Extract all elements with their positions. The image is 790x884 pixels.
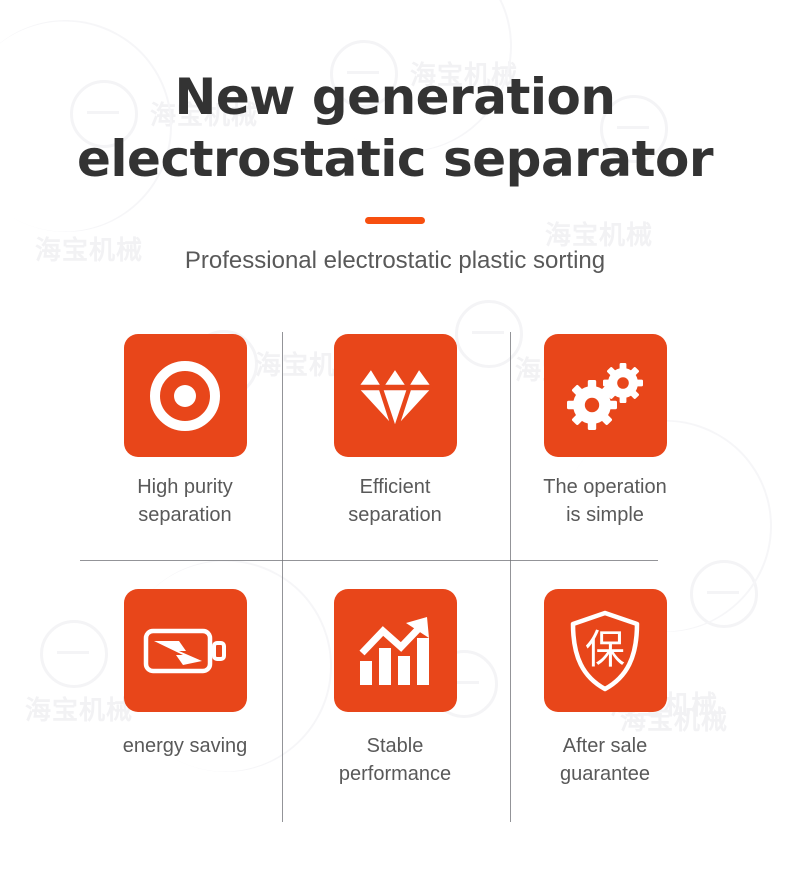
- feature-label: Efficient separation: [348, 473, 441, 529]
- feature-icon-tile: [334, 334, 457, 457]
- feature-item-efficient-separation[interactable]: Efficient separation: [290, 324, 500, 551]
- feature-item-energy-saving[interactable]: energy saving: [80, 551, 290, 778]
- page-root: New generation electrostatic separator P…: [0, 0, 790, 814]
- page-subtitle: Professional electrostatic plastic sorti…: [0, 246, 790, 276]
- shield-guarantee-icon: 保: [569, 609, 641, 693]
- feature-label: energy saving: [123, 732, 248, 760]
- feature-label: After sale guarantee: [560, 732, 650, 788]
- gears-icon: [565, 358, 645, 434]
- feature-icon-tile: [544, 334, 667, 457]
- target-icon: [149, 360, 221, 432]
- grid-divider-horizontal: [80, 560, 658, 561]
- diamond-icon: [356, 360, 434, 432]
- features-grid-section: High purity separation: [80, 324, 710, 814]
- grid-divider-vertical-1: [282, 332, 283, 822]
- feature-item-high-purity-separation[interactable]: High purity separation: [80, 324, 290, 551]
- feature-icon-tile: 保: [544, 589, 667, 712]
- grid-divider-vertical-2: [510, 332, 511, 822]
- page-title-line-1: New generation: [0, 66, 790, 128]
- feature-label: Stable performance: [339, 732, 451, 788]
- title-accent-bar: [365, 217, 425, 224]
- page-title: New generation electrostatic separator: [0, 66, 790, 190]
- feature-label: The operation is simple: [543, 473, 666, 529]
- svg-text:保: 保: [585, 627, 625, 673]
- hero-section: New generation electrostatic separator P…: [0, 0, 790, 276]
- features-grid: High purity separation: [80, 324, 710, 814]
- battery-charge-icon: [143, 625, 227, 677]
- feature-item-stable-performance[interactable]: Stable performance: [290, 551, 500, 778]
- feature-icon-tile: [124, 334, 247, 457]
- feature-icon-tile: [124, 589, 247, 712]
- feature-item-operation-is-simple[interactable]: The operation is simple: [500, 324, 710, 551]
- feature-icon-tile: [334, 589, 457, 712]
- feature-label: High purity separation: [137, 473, 233, 529]
- page-title-line-2: electrostatic separator: [0, 128, 790, 190]
- bar-chart-growth-icon: [357, 614, 433, 688]
- feature-item-after-sale-guarantee[interactable]: 保 After sale guarantee: [500, 551, 710, 778]
